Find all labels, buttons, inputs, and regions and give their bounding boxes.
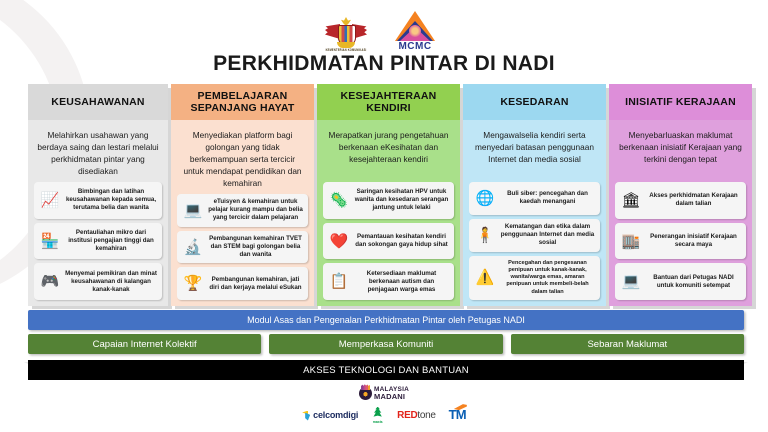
pillar-column-kesejahteraan-kendiri: KESEJAHTERAAN KENDIRI Merapatkan jurang … (317, 84, 460, 306)
list-item[interactable]: 💻 eTuisyen & kemahiran untuk pelajar kur… (177, 194, 308, 227)
heart-monitor-icon: ❤️ (328, 230, 350, 252)
celcomdigi-mark-icon (302, 410, 311, 421)
tm-logo: TM (449, 409, 466, 421)
card-text: Saringan kesihatan HPV untuk wanita dan … (354, 188, 449, 212)
list-item[interactable]: 📋 Ketersediaan maklumat berkenaan autism… (323, 263, 454, 300)
column-title: INISIATIF KERAJAAN (609, 84, 752, 120)
malaysia-madani-logo: MALAYSIA MADANI (359, 385, 409, 402)
redtone-wordmark-grey: tone (417, 410, 435, 421)
celcomdigi-logo: celcomdigi (302, 410, 358, 421)
column-description: Menyediakan platform bagi golongan yang … (177, 125, 308, 194)
list-item[interactable]: 🔬 Pembangunan kemahiran TVET dan STEM ba… (177, 231, 308, 264)
people-ethics-icon: 🧍 (474, 224, 496, 246)
clipboard-checklist-icon: 📋 (328, 271, 350, 293)
bar-akses-teknologi-dan-bantuan[interactable]: AKSES TEKNOLOGI DAN BANTUAN (28, 360, 744, 380)
card-text: Buli siber: pencegahan dan kaedah menang… (500, 190, 595, 206)
warning-scam-icon: ⚠️ (474, 267, 496, 289)
online-learning-icon: 💻 (182, 199, 204, 221)
madani-emblem-icon (359, 387, 372, 400)
card-list: 💻 eTuisyen & kemahiran untuk pelajar kur… (177, 194, 308, 300)
card-list: 🏛 Akses perkhidmatan Kerajaan dalam tali… (615, 182, 746, 300)
list-item[interactable]: 🏛 Akses perkhidmatan Kerajaan dalam tali… (615, 182, 746, 219)
partner-logos: celcomdigi maxis RED tone TM (302, 407, 466, 423)
list-item[interactable]: 🏆 Pembangunan kemahiran, jati diri dan k… (177, 267, 308, 300)
pillar-columns: KEUSAHAWANAN Melahirkan usahawan yang be… (28, 84, 744, 306)
bar-modul-asas[interactable]: Modul Asas dan Pengenalan Perkhidmatan P… (28, 310, 744, 330)
card-text: Bimbingan dan latihan keusahawanan kepad… (65, 188, 157, 212)
card-text: Akses perkhidmatan Kerajaan dalam talian (646, 192, 741, 208)
card-list: 📈 Bimbingan dan latihan keusahawanan kep… (34, 182, 162, 300)
column-description: Menyebarluaskan maklumat berkenaan inisi… (615, 125, 746, 182)
card-text: Kematangan dan etika dalam penggunaan In… (500, 223, 595, 247)
redtone-wordmark-red: RED (397, 410, 417, 421)
game-controller-icon: 🎮 (39, 271, 61, 293)
column-description: Merapatkan jurang pengetahuan berkenaan … (323, 125, 454, 182)
column-title: KESEJAHTERAAN KENDIRI (317, 84, 460, 120)
list-item[interactable]: 🌐 Buli siber: pencegahan dan kaedah mena… (469, 182, 600, 215)
card-text: Pemantauan kesihatan kendiri dan sokonga… (354, 233, 449, 249)
list-item[interactable]: 🏬 Penerangan inisiatif Kerajaan secara m… (615, 223, 746, 260)
card-text: Pembangunan kemahiran TVET dan STEM bagi… (208, 235, 303, 259)
card-text: Penerangan inisiatif Kerajaan secara may… (646, 233, 741, 249)
bar-capaian-internet-kolektif[interactable]: Capaian Internet Kolektif (28, 334, 261, 354)
globe-shield-icon: 🌐 (474, 187, 496, 209)
redtone-logo: RED tone (397, 410, 435, 421)
laptop-support-icon: 💻 (620, 271, 642, 293)
skills-tools-icon: 🔬 (182, 236, 204, 258)
mcmc-logo: MCMC (384, 8, 446, 52)
chart-growth-icon: 📈 (39, 189, 61, 211)
mcmc-triangle-icon (395, 11, 435, 41)
pillar-column-keusahawanan: KEUSAHAWANAN Melahirkan usahawan yang be… (28, 84, 168, 306)
card-text: eTuisyen & kemahiran untuk pelajar kuran… (208, 198, 303, 222)
card-text: Bantuan dari Petugas NADI untuk komuniti… (646, 274, 741, 290)
list-item[interactable]: ⚠️ Pencegahan dan pengesanan penipuan un… (469, 256, 600, 300)
virtual-booth-icon: 🏬 (620, 230, 642, 252)
card-list: 🌐 Buli siber: pencegahan dan kaedah mena… (469, 182, 600, 300)
maxis-wordmark: maxis (373, 420, 383, 424)
celcomdigi-wordmark: celcomdigi (313, 410, 358, 420)
footer-logos: MALAYSIA MADANI celcomdigi maxis RED ton… (0, 385, 768, 432)
card-list: 🦠 Saringan kesihatan HPV untuk wanita da… (323, 182, 454, 300)
bar-memperkasa-komuniti[interactable]: Memperkasa Komuniti (269, 334, 502, 354)
list-item[interactable]: 🏪 Pentauliahan mikro dari institusi peng… (34, 223, 162, 260)
health-screening-icon: 🦠 (328, 189, 350, 211)
column-description: Melahirkan usahawan yang berdaya saing d… (34, 125, 162, 182)
jata-negara-logo: KEMENTERIAN KOMUNIKASI (322, 8, 370, 52)
maxis-logo: maxis (371, 407, 384, 424)
pillar-column-inisiatif-kerajaan: INISIATIF KERAJAAN Menyebarluaskan maklu… (609, 84, 752, 306)
header-logos: KEMENTERIAN KOMUNIKASI MCMC (0, 6, 768, 52)
card-text: Ketersediaan maklumat berkenaan autism d… (354, 270, 449, 294)
page-title: PERKHIDMATAN PINTAR DI NADI (0, 52, 768, 76)
list-item[interactable]: ❤️ Pemantauan kesihatan kendiri dan soko… (323, 223, 454, 260)
infographic-page: KEMENTERIAN KOMUNIKASI MCMC PERKHIDMATAN… (0, 0, 768, 432)
maxis-leaf-icon (371, 407, 384, 420)
card-text: Menyemai pemikiran dan minat keusahawana… (65, 270, 157, 294)
madani-line-2: MADANI (374, 393, 409, 400)
bar-black-wrapper: AKSES TEKNOLOGI DAN BANTUAN (28, 360, 744, 380)
bar-sebaran-maklumat[interactable]: Sebaran Maklumat (511, 334, 744, 354)
coat-of-arms-icon (324, 17, 368, 49)
tm-wordmark: TM (449, 409, 466, 421)
card-text: Pentauliahan mikro dari institusi pengaj… (65, 229, 157, 253)
card-text: Pencegahan dan pengesanan penipuan untuk… (500, 260, 595, 296)
list-item[interactable]: 💻 Bantuan dari Petugas NADI untuk komuni… (615, 263, 746, 300)
list-item[interactable]: 📈 Bimbingan dan latihan keusahawanan kep… (34, 182, 162, 219)
list-item[interactable]: 🎮 Menyemai pemikiran dan minat keusahawa… (34, 263, 162, 300)
column-description: Mengawalselia kendiri serta menyedari ba… (469, 125, 600, 182)
government-online-icon: 🏛 (620, 189, 642, 211)
mcmc-wordmark: MCMC (398, 42, 431, 52)
bar-row-green: Capaian Internet Kolektif Memperkasa Kom… (28, 334, 744, 354)
list-item[interactable]: 🧍 Kematangan dan etika dalam penggunaan … (469, 219, 600, 252)
list-item[interactable]: 🦠 Saringan kesihatan HPV untuk wanita da… (323, 182, 454, 219)
pillar-column-kesedaran: KESEDARAN Mengawalselia kendiri serta me… (463, 84, 606, 306)
column-title: PEMBELAJARAN SEPANJANG HAYAT (171, 84, 314, 120)
card-text: Pembangunan kemahiran, jati diri dan ker… (208, 276, 303, 292)
column-title: KEUSAHAWANAN (28, 84, 168, 120)
storefront-icon: 🏪 (39, 230, 61, 252)
foundation-bars: Modul Asas dan Pengenalan Perkhidmatan P… (28, 310, 744, 380)
pillar-column-pembelajaran-sepanjang-hayat: PEMBELAJARAN SEPANJANG HAYAT Menyediakan… (171, 84, 314, 306)
column-title: KESEDARAN (463, 84, 606, 120)
trophy-esports-icon: 🏆 (182, 273, 204, 295)
